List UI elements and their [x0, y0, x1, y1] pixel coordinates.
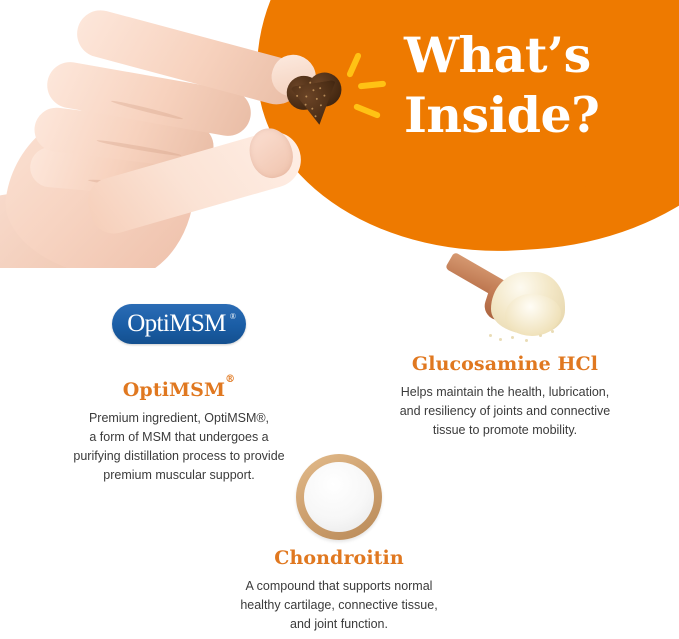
description-line: Helps maintain the health, lubrication, [344, 383, 666, 402]
scoop-illustration [439, 260, 571, 344]
description-line: a form of MSM that undergoes a [14, 428, 344, 447]
optimsm-logo-text: OptiMSM [112, 304, 246, 344]
headline-line-1: What’s [404, 28, 666, 84]
heart-gummy-icon [284, 70, 347, 130]
white-powder [304, 462, 374, 532]
ingredient-description-chondroitin: A compound that supports normal healthy … [178, 577, 500, 634]
description-line: Premium ingredient, OptiMSM®, [14, 409, 344, 428]
description-line: and resiliency of joints and connective [344, 402, 666, 421]
ingredient-description-glucosamine: Helps maintain the health, lubrication, … [344, 383, 666, 440]
hero-banner: What’s Inside? [0, 0, 679, 268]
description-line: tissue to promote mobility. [344, 421, 666, 440]
hand-holding-heart-gummy [0, 18, 330, 268]
ingredient-title-text: OptiMSM [123, 379, 225, 401]
description-line: healthy cartilage, connective tissue, [178, 596, 500, 615]
optimsm-logo-pill: OptiMSM ® [112, 304, 246, 344]
ingredient-card-glucosamine: Glucosamine HCl Helps maintain the healt… [344, 260, 666, 440]
ingredient-title-optimsm: OptiMSM® [14, 379, 344, 401]
ingredient-title-glucosamine: Glucosamine HCl [344, 353, 666, 375]
wooden-bowl-white-powder-icon [178, 454, 500, 538]
optimsm-logo-badge: OptiMSM ® [14, 286, 344, 370]
description-line: and joint function. [178, 615, 500, 634]
headline-line-2: Inside? [404, 88, 666, 144]
wooden-scoop-powder-icon [344, 260, 666, 344]
registered-trademark-icon: ® [225, 374, 235, 385]
page-title: What’s Inside? [404, 28, 666, 144]
description-line: A compound that supports normal [178, 577, 500, 596]
registered-trademark-icon: ® [230, 312, 236, 321]
bowl-illustration [296, 454, 382, 540]
ingredient-card-chondroitin: Chondroitin A compound that supports nor… [178, 454, 500, 634]
ingredient-title-chondroitin: Chondroitin [178, 547, 500, 569]
